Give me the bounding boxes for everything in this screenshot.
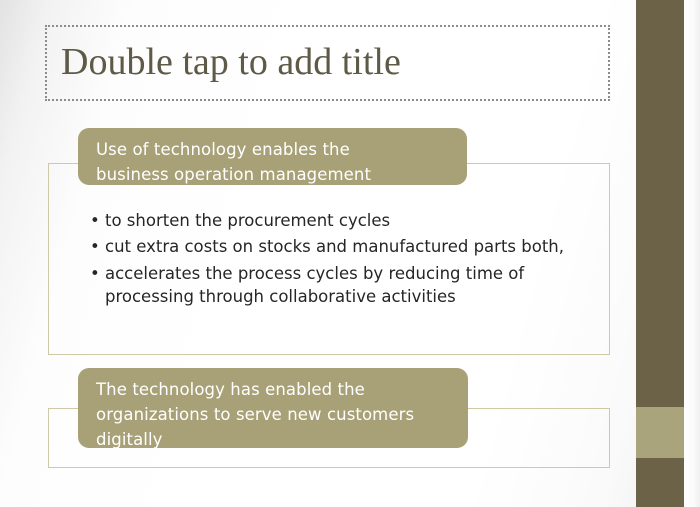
section-2-header-line-1: The technology has enabled the <box>96 378 452 403</box>
sidebar-band-light <box>636 407 684 458</box>
list-item-label: cut extra costs on stocks and manufactur… <box>105 237 564 256</box>
section-2-header-line-2: organizations to serve new customers <box>96 403 452 428</box>
title-placeholder[interactable]: Double tap to add title <box>45 25 610 101</box>
sidebar-right-margin <box>684 0 700 507</box>
section-1-bullet-list: • to shorten the procurement cycles • cu… <box>88 209 588 312</box>
section-2-header-chip[interactable]: The technology has enabled the organizat… <box>78 368 468 448</box>
section-2-header-line-3: digitally <box>96 428 452 453</box>
section-1-header-line-2: business operation management <box>96 163 451 188</box>
bullet-dot-icon: • <box>90 235 100 258</box>
list-item[interactable]: • to shorten the procurement cycles <box>88 209 588 232</box>
list-item-label: to shorten the procurement cycles <box>105 211 390 230</box>
list-item-label: accelerates the process cycles by reduci… <box>105 264 524 306</box>
section-1-header-chip[interactable]: Use of technology enables the business o… <box>78 128 467 185</box>
section-1-header-line-1: Use of technology enables the <box>96 138 451 163</box>
bullet-dot-icon: • <box>90 262 100 285</box>
list-item[interactable]: • accelerates the process cycles by redu… <box>88 262 588 309</box>
bullet-dot-icon: • <box>90 209 100 232</box>
slide-canvas: Double tap to add title Use of technolog… <box>0 0 700 507</box>
list-item[interactable]: • cut extra costs on stocks and manufact… <box>88 235 588 258</box>
page-title: Double tap to add title <box>61 42 401 84</box>
